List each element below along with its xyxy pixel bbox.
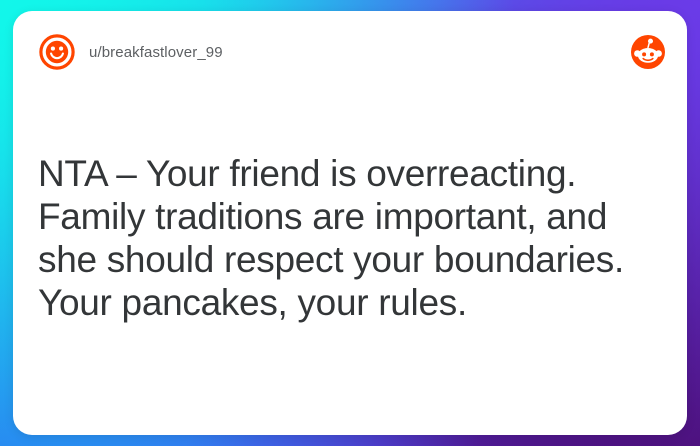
reddit-snoo-icon bbox=[631, 35, 665, 69]
reddit-post-card: u/breakfastlover_99 bbox=[13, 11, 687, 435]
smiley-face-avatar-icon bbox=[38, 33, 76, 71]
author-username: u/breakfastlover_99 bbox=[89, 44, 223, 61]
post-author[interactable]: u/breakfastlover_99 bbox=[38, 33, 631, 71]
brand-logo-wrap[interactable] bbox=[631, 35, 665, 69]
avatar[interactable] bbox=[38, 33, 76, 71]
post-card-canvas: u/breakfastlover_99 bbox=[0, 0, 700, 446]
post-header: u/breakfastlover_99 bbox=[13, 11, 687, 93]
post-body-text: NTA – Your friend is overreacting. Famil… bbox=[38, 152, 657, 324]
